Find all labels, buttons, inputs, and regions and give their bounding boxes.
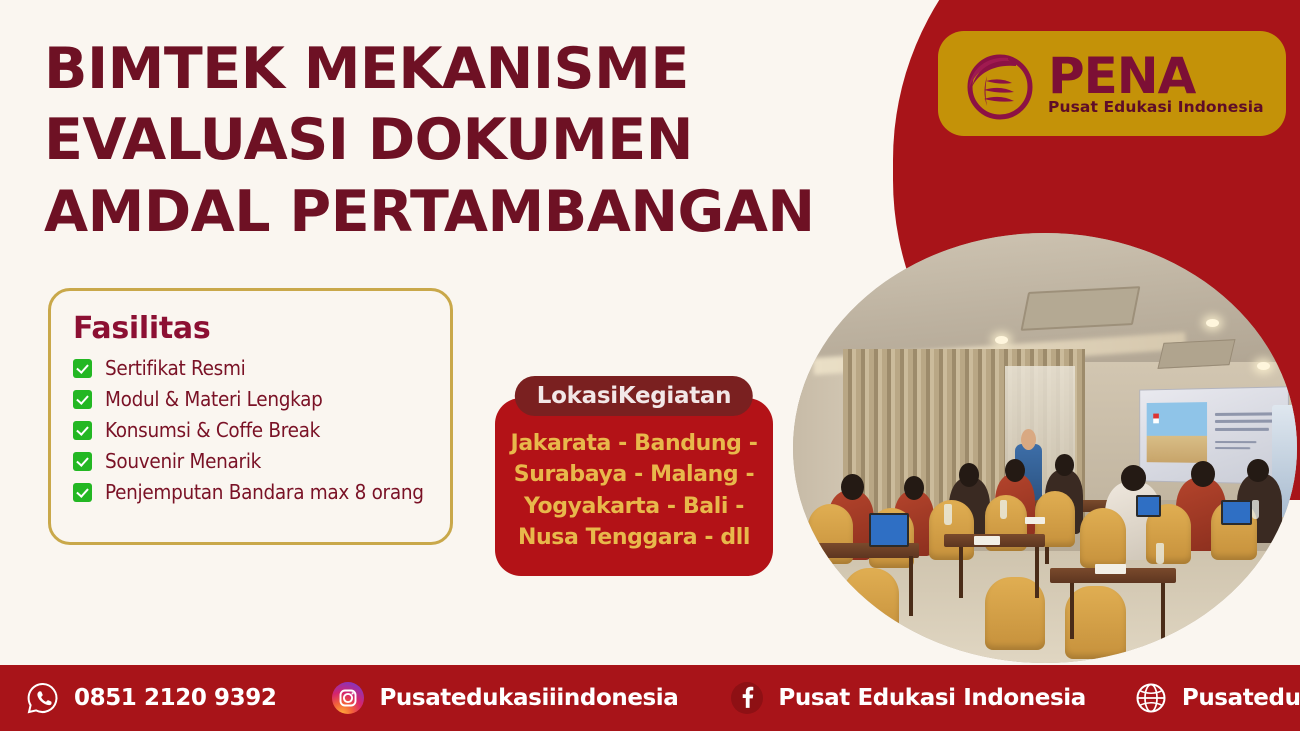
globe-icon [1134,681,1168,715]
facility-item: Sertifikat Resmi [73,356,428,380]
contact-whatsapp[interactable]: 0851 2120 9392 [26,681,276,715]
facility-label: Sertifikat Resmi [105,356,245,380]
facilities-card: Fasilitas Sertifikat Resmi Modul & Mater… [48,288,453,545]
contact-instagram[interactable]: Pusatedukasiiindonesia [331,681,678,715]
location-badge: LokasiKegiatan [515,376,753,416]
contact-label: Pusatedukasiiindonesia [379,685,678,711]
facility-item: Souvenir Menarik [73,449,428,473]
facility-label: Penjemputan Bandara max 8 orang [105,480,424,504]
contact-website[interactable]: Pusatedukasi.co.id [1134,681,1300,715]
facility-label: Modul & Materi Lengkap [105,387,323,411]
check-box-icon [73,390,92,409]
title-line-1: BIMTEK MEKANISME [44,34,904,105]
logo-wordmark: PENA [1048,53,1264,101]
footer-contact-bar: 0851 2120 9392 [0,665,1300,731]
page-title: BIMTEK MEKANISME EVALUASI DOKUMEN AMDAL … [44,34,904,248]
location-list: Jakarata - Bandung - Surabaya - Malang -… [495,428,773,554]
pena-feather-circle-icon [956,43,1038,125]
location-card: LokasiKegiatan Jakarata - Bandung - Sura… [495,398,773,576]
check-box-icon [73,452,92,471]
facility-item: Konsumsi & Coffe Break [73,418,428,442]
check-box-icon [73,421,92,440]
contact-label: Pusatedukasi.co.id [1182,685,1300,711]
seminar-photo [793,233,1297,663]
title-line-3: AMDAL PERTAMBANGAN [44,177,904,248]
logo-tagline: Pusat Edukasi Indonesia [1048,98,1264,116]
whatsapp-icon [26,681,60,715]
title-line-2: EVALUASI DOKUMEN [44,105,904,176]
facility-item: Modul & Materi Lengkap [73,387,428,411]
contact-facebook[interactable]: Pusat Edukasi Indonesia [730,681,1085,715]
check-box-icon [73,359,92,378]
contact-label: Pusat Edukasi Indonesia [778,685,1085,711]
brand-logo: PENA Pusat Edukasi Indonesia [938,31,1286,136]
facility-label: Souvenir Menarik [105,449,261,473]
facility-item: Penjemputan Bandara max 8 orang [73,480,428,504]
promo-banner: BIMTEK MEKANISME EVALUASI DOKUMEN AMDAL … [0,0,1300,731]
facebook-icon [730,681,764,715]
facility-label: Konsumsi & Coffe Break [105,418,320,442]
contact-label: 0851 2120 9392 [74,685,276,711]
check-box-icon [73,483,92,502]
facilities-title: Fasilitas [73,311,428,346]
instagram-icon [331,681,365,715]
